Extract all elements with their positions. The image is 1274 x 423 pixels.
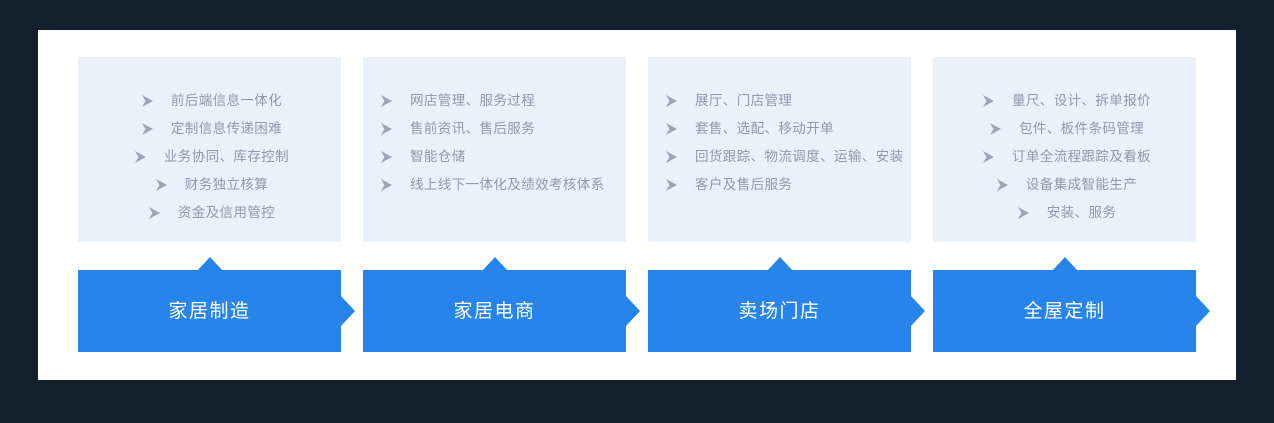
list-item: 设备集成智能生产 <box>992 171 1137 199</box>
banner-body[interactable]: 家居电商 <box>363 270 626 352</box>
process-column-2: 网店管理、服务过程 售前资讯、售后服务 智能仓储 线上线下一体化及绩效 <box>363 57 626 357</box>
list-item: 智能仓储 <box>376 143 466 171</box>
chevron-right-icon <box>1013 206 1037 220</box>
list-item: 订单全流程跟踪及看板 <box>978 143 1151 171</box>
list-item: 客户及售后服务 <box>661 171 792 199</box>
stage-banner-3[interactable]: 卖场门店 <box>648 257 911 352</box>
banner-label: 家居制造 <box>168 302 250 321</box>
stage-banner-2[interactable]: 家居电商 <box>363 257 626 352</box>
banner-label: 全屋定制 <box>1023 302 1105 321</box>
chevron-right-icon <box>978 94 1002 108</box>
banner-label: 家居电商 <box>453 302 535 321</box>
list-item: 展厅、门店管理 <box>661 87 792 115</box>
feature-list-2: 网店管理、服务过程 售前资讯、售后服务 智能仓储 线上线下一体化及绩效 <box>363 87 626 199</box>
chevron-right-icon <box>376 94 400 108</box>
list-item-label: 前后端信息一体化 <box>171 94 282 108</box>
list-item: 定制信息传递困难 <box>137 115 282 143</box>
diagram-card: 前后端信息一体化 定制信息传递困难 业务协同、库存控制 财务独立核算 <box>38 30 1236 380</box>
feature-panel-2: 网店管理、服务过程 售前资讯、售后服务 智能仓储 线上线下一体化及绩效 <box>363 57 626 242</box>
list-item: 售前资讯、售后服务 <box>376 115 535 143</box>
list-item-label: 智能仓储 <box>410 150 466 164</box>
list-item: 安装、服务 <box>1013 199 1117 227</box>
list-item-label: 线上线下一体化及绩效考核体系 <box>410 178 605 192</box>
list-item-label: 业务协同、库存控制 <box>164 150 289 164</box>
banner-label: 卖场门店 <box>738 302 820 321</box>
process-columns: 前后端信息一体化 定制信息传递困难 业务协同、库存控制 财务独立核算 <box>78 57 1196 357</box>
chevron-right-icon <box>661 150 685 164</box>
feature-panel-4: 量尺、设计、拆单报价 包件、板件条码管理 订单全流程跟踪及看板 设备集 <box>933 57 1196 242</box>
list-item: 网店管理、服务过程 <box>376 87 535 115</box>
list-item-label: 套售、选配、移动开单 <box>695 122 834 136</box>
feature-list-4: 量尺、设计、拆单报价 包件、板件条码管理 订单全流程跟踪及看板 设备集 <box>933 87 1196 227</box>
chevron-right-icon <box>137 94 161 108</box>
list-item-label: 资金及信用管控 <box>178 206 275 220</box>
list-item-label: 订单全流程跟踪及看板 <box>1012 150 1151 164</box>
list-item-label: 包件、板件条码管理 <box>1019 122 1144 136</box>
chevron-right-icon <box>137 122 161 136</box>
chevron-right-icon <box>661 122 685 136</box>
chevron-right-icon <box>151 178 175 192</box>
stage-banner-1[interactable]: 家居制造 <box>78 257 341 352</box>
banner-body[interactable]: 全屋定制 <box>933 270 1196 352</box>
flow-arrow-icon <box>626 296 640 326</box>
list-item: 量尺、设计、拆单报价 <box>978 87 1151 115</box>
feature-list-3: 展厅、门店管理 套售、选配、移动开单 回货跟踪、物流调度、运输、安装 <box>648 87 911 199</box>
flow-arrow-icon <box>1196 296 1210 326</box>
list-item-label: 量尺、设计、拆单报价 <box>1012 94 1151 108</box>
banner-notch-icon <box>482 257 508 271</box>
process-column-3: 展厅、门店管理 套售、选配、移动开单 回货跟踪、物流调度、运输、安装 <box>648 57 911 357</box>
list-item: 业务协同、库存控制 <box>130 143 289 171</box>
chevron-right-icon <box>978 150 1002 164</box>
list-item-label: 网店管理、服务过程 <box>410 94 535 108</box>
chevron-right-icon <box>376 122 400 136</box>
banner-body[interactable]: 卖场门店 <box>648 270 911 352</box>
chevron-right-icon <box>992 178 1016 192</box>
banner-body[interactable]: 家居制造 <box>78 270 341 352</box>
list-item: 套售、选配、移动开单 <box>661 115 834 143</box>
list-item: 线上线下一体化及绩效考核体系 <box>376 171 605 199</box>
list-item-label: 展厅、门店管理 <box>695 94 792 108</box>
list-item: 资金及信用管控 <box>144 199 275 227</box>
chevron-right-icon <box>144 206 168 220</box>
feature-panel-3: 展厅、门店管理 套售、选配、移动开单 回货跟踪、物流调度、运输、安装 <box>648 57 911 242</box>
list-item-label: 客户及售后服务 <box>695 178 792 192</box>
feature-list-1: 前后端信息一体化 定制信息传递困难 业务协同、库存控制 财务独立核算 <box>78 87 341 227</box>
banner-notch-icon <box>767 257 793 271</box>
stage-banner-4[interactable]: 全屋定制 <box>933 257 1196 352</box>
list-item-label: 财务独立核算 <box>185 178 268 192</box>
list-item: 包件、板件条码管理 <box>985 115 1144 143</box>
chevron-right-icon <box>376 150 400 164</box>
flow-arrow-icon <box>341 296 355 326</box>
banner-notch-icon <box>197 257 223 271</box>
chevron-right-icon <box>130 150 154 164</box>
list-item: 回货跟踪、物流调度、运输、安装 <box>661 143 904 171</box>
feature-panel-1: 前后端信息一体化 定制信息传递困难 业务协同、库存控制 财务独立核算 <box>78 57 341 242</box>
list-item: 前后端信息一体化 <box>137 87 282 115</box>
list-item-label: 回货跟踪、物流调度、运输、安装 <box>695 150 904 164</box>
process-column-4: 量尺、设计、拆单报价 包件、板件条码管理 订单全流程跟踪及看板 设备集 <box>933 57 1196 357</box>
chevron-right-icon <box>661 94 685 108</box>
chevron-right-icon <box>985 122 1009 136</box>
list-item-label: 定制信息传递困难 <box>171 122 282 136</box>
list-item-label: 设备集成智能生产 <box>1026 178 1137 192</box>
list-item-label: 售前资讯、售后服务 <box>410 122 535 136</box>
list-item-label: 安装、服务 <box>1047 206 1117 220</box>
flow-arrow-icon <box>911 296 925 326</box>
process-column-1: 前后端信息一体化 定制信息传递困难 业务协同、库存控制 财务独立核算 <box>78 57 341 357</box>
list-item: 财务独立核算 <box>151 171 268 199</box>
chevron-right-icon <box>376 178 400 192</box>
banner-notch-icon <box>1052 257 1078 271</box>
chevron-right-icon <box>661 178 685 192</box>
